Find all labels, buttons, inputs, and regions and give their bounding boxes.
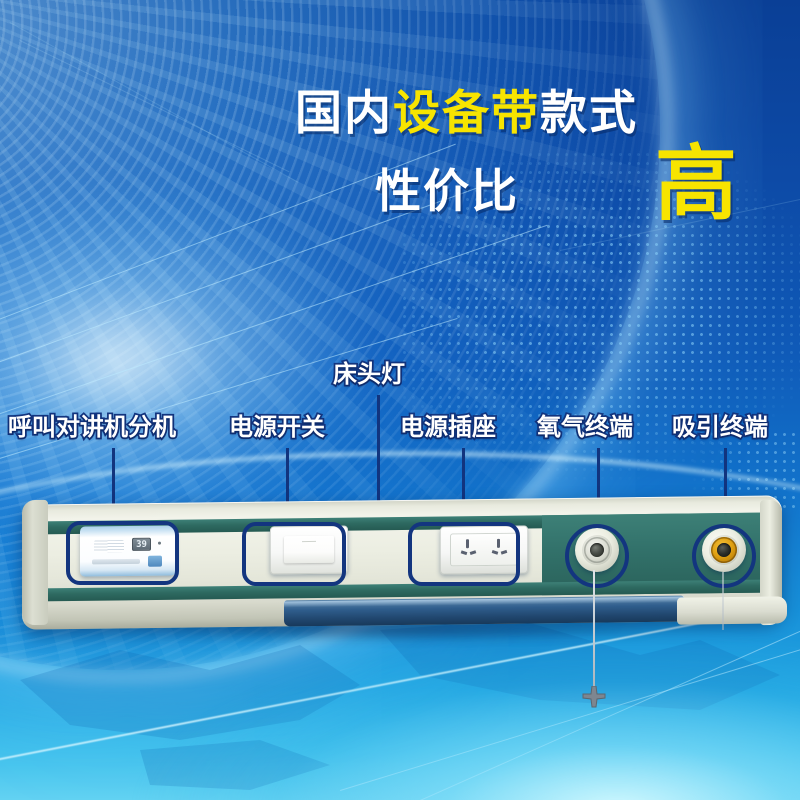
highlight-box-power-switch: [242, 522, 346, 586]
callout-label-oxygen: 氧气终端: [537, 415, 633, 439]
lower-cover-rail-end: [677, 596, 787, 624]
banner-image: 国内设备带款式 性价比 高 呼叫对讲机分机 电源开关 床头灯 电源插座 氧气终端…: [0, 0, 800, 800]
callout-label-bed-lamp: 床头灯: [333, 362, 405, 386]
pull-cord-weight[interactable]: [581, 686, 607, 712]
callout-label-power-switch: 电源开关: [229, 415, 325, 439]
highlight-box-power-socket: [408, 522, 520, 586]
callout-label-power-socket: 电源插座: [400, 415, 496, 439]
headline-seg-2: 设备带: [393, 86, 540, 141]
suction-drain-tube: [722, 572, 724, 630]
headline-emphasis: 高: [655, 144, 737, 226]
callout-label-suction: 吸引终端: [672, 415, 768, 439]
headline-seg-4: 性价比: [375, 164, 519, 218]
highlight-circle-oxygen: [565, 524, 629, 588]
pull-cord[interactable]: [593, 570, 595, 692]
callout-label-intercom: 呼叫对讲机分机: [8, 415, 176, 439]
headline-seg-1: 国内: [295, 86, 393, 141]
headline-line-1: 国内设备带款式: [295, 90, 638, 137]
headline-line-2: 性价比: [375, 168, 519, 214]
highlight-circle-suction: [692, 524, 756, 588]
highlight-box-intercom: [66, 521, 179, 585]
device-end-cap-left: [22, 500, 48, 625]
headline-seg-3: 款式: [540, 86, 638, 141]
